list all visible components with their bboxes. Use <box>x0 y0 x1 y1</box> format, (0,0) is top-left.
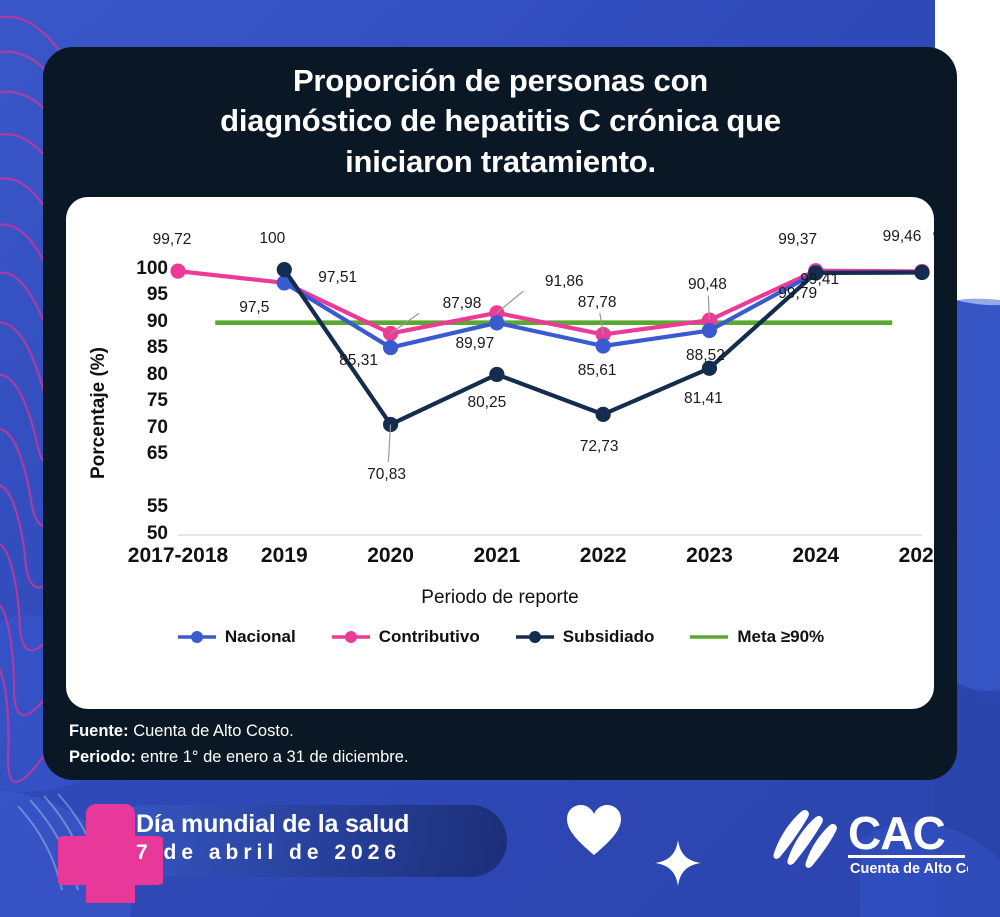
data-label-nacional-2022: 85,61 <box>578 362 617 380</box>
period-label: Periodo: <box>69 748 136 766</box>
legend-label-subsidiado: Subsidiado <box>563 627 655 647</box>
chart-card: Proporción de personas con diagnóstico d… <box>43 47 957 780</box>
data-label-contributivo-2023: 90,48 <box>688 276 727 294</box>
cac-logo: CAC Cuenta de Alto Costo <box>768 805 968 877</box>
footnote-period: Periodo: entre 1° de enero a 31 de dicie… <box>69 745 409 771</box>
legend-swatch-contributivo <box>330 629 372 645</box>
chart-title-line-3: iniciaron tratamiento. <box>113 142 888 182</box>
data-label-subsidiado-2025: 99,46 <box>883 228 922 246</box>
source-value: Cuenta de Alto Costo. <box>133 722 294 740</box>
sparkle-icon <box>655 840 701 886</box>
period-value: entre 1° de enero a 31 de diciembre. <box>141 748 409 766</box>
data-label-subsidiado-2023: 81,41 <box>684 390 723 408</box>
legend-item-nacional[interactable]: Nacional <box>176 627 296 647</box>
data-label-contributivo-2021: 91,86 <box>545 273 584 291</box>
data-label-contributivo-2020: 87,98 <box>443 295 482 313</box>
legend-label-contributivo: Contributivo <box>379 627 480 647</box>
legend-swatch-nacional <box>176 629 218 645</box>
data-label-subsidiado-2022: 72,73 <box>580 438 619 456</box>
cac-tagline: Cuenta de Alto Costo <box>850 861 968 877</box>
data-label-nacional-2021: 89,97 <box>455 335 494 353</box>
data-label-contributivo-2019: 97,51 <box>318 269 357 287</box>
data-label-contributivo-2017-2018: 99,72 <box>153 231 192 249</box>
legend-item-meta-90[interactable]: Meta ≥90% <box>688 627 824 647</box>
cac-wordmark: CAC <box>848 807 945 859</box>
source-label: Fuente: <box>69 722 129 740</box>
data-label-subsidiado-2020: 70,83 <box>367 466 406 484</box>
footnote-source: Fuente: Cuenta de Alto Costo. <box>69 719 409 745</box>
legend-swatch-meta-90 <box>688 629 730 645</box>
chart-title-line-2: diagnóstico de hepatitis C crónica que <box>113 101 888 141</box>
data-label-subsidiado-2019: 100 <box>259 230 285 248</box>
chart-legend: NacionalContributivoSubsidiadoMeta ≥90% <box>66 627 934 647</box>
data-label-contributivo-2022: 87,78 <box>578 294 617 312</box>
chart-title: Proporción de personas con diagnóstico d… <box>113 61 888 182</box>
legend-item-subsidiado[interactable]: Subsidiado <box>514 627 655 647</box>
chart-title-line-1: Proporción de personas con <box>113 61 888 101</box>
banner-line-2: 7 de abril de 2026 <box>136 841 409 865</box>
data-label-subsidiado-2024: 99,37 <box>778 231 817 249</box>
data-label-subsidiado-2021: 80,25 <box>467 394 506 412</box>
data-label-nacional-2025: 99,47 <box>933 228 934 246</box>
legend-label-meta-90: Meta ≥90% <box>737 627 824 647</box>
banner-line-1: Día mundial de la salud <box>136 810 409 839</box>
data-label-nacional-2024: 99,41 <box>800 271 839 289</box>
plot-area-card: Porcentaje (%) Periodo de reporte 100959… <box>66 197 934 709</box>
banner-text: Día mundial de la salud 7 de abril de 20… <box>136 810 409 865</box>
legend-label-nacional: Nacional <box>225 627 296 647</box>
heart-icon <box>565 803 623 857</box>
data-label-nacional-2019: 97,5 <box>239 299 269 317</box>
data-label-nacional-2020: 85,31 <box>339 352 378 370</box>
data-label-nacional-2023: 88,52 <box>686 347 725 365</box>
chart-footnotes: Fuente: Cuenta de Alto Costo. Periodo: e… <box>69 719 409 770</box>
swoosh-icon <box>773 810 836 868</box>
legend-item-contributivo[interactable]: Contributivo <box>330 627 480 647</box>
legend-swatch-subsidiado <box>514 629 556 645</box>
